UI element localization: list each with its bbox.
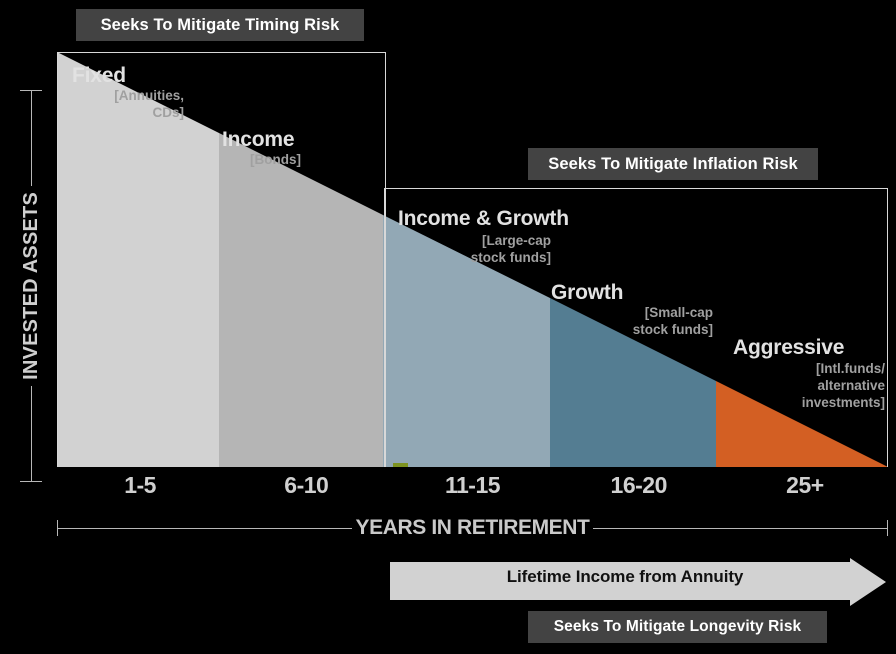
x-tick-2: 6-10 [223,472,389,500]
x-tick-1: 1-5 [57,472,223,500]
band-income [219,133,383,467]
y-bracket-rule-bottom [31,386,32,481]
x-bracket-rule-left [58,528,352,529]
x-tick-5: 25+ [722,472,888,500]
banner-longevity-risk: Seeks To Mitigate Longevity Risk [528,611,827,643]
banner-inflation-risk: Seeks To Mitigate Inflation Risk [528,148,818,180]
x-bracket-rule-right [593,528,887,529]
y-bracket-cap-bottom [20,481,42,482]
segment-subtitle-income: [Bonds] [206,151,301,168]
infographic-canvas: Seeks To Mitigate Timing Risk Seeks To M… [0,0,896,654]
segment-title-fixed: Fixed [72,64,126,88]
segment-title-income: Income [222,128,294,152]
segment-title-growth: Growth [551,281,623,305]
segment-subtitle-income-growth: [Large-capstock funds] [398,232,551,266]
accent-tick [393,463,408,467]
lifetime-income-arrow [390,558,886,606]
segment-subtitle-growth: [Small-capstock funds] [551,304,713,338]
segment-subtitle-aggressive: [Intl.funds/alternativeinvestments] [715,360,885,411]
x-tick-3: 11-15 [389,472,555,500]
arrow-right-icon [390,558,886,606]
y-axis-title: INVESTED ASSETS [20,186,43,386]
y-bracket-rule-top [31,91,32,186]
x-axis-bracket: YEARS IN RETIREMENT [57,513,888,543]
segment-subtitle-fixed: [Annuities,CDs] [72,87,184,121]
x-axis-tick-labels: 1-5 6-10 11-15 16-20 25+ [57,472,888,500]
segment-title-income-growth: Income & Growth [398,207,569,231]
x-bracket-cap-right [887,520,888,536]
banner-timing-risk: Seeks To Mitigate Timing Risk [76,9,364,41]
segment-title-aggressive: Aggressive [733,336,844,360]
x-tick-4: 16-20 [556,472,722,500]
y-axis-bracket: INVESTED ASSETS [12,90,50,482]
x-axis-title: YEARS IN RETIREMENT [352,516,594,540]
